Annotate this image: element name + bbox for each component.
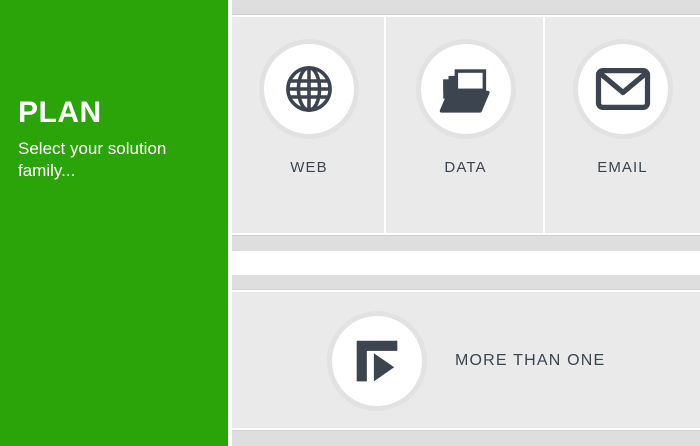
solution-option-email-label: EMAIL — [597, 159, 648, 176]
solution-family-card: WEB — [232, 0, 700, 251]
globe-icon — [282, 62, 336, 116]
plan-panel: PLAN Select your solution family... — [0, 0, 228, 446]
solution-option-web-label: WEB — [290, 159, 327, 176]
solution-option-data[interactable]: DATA — [386, 17, 545, 234]
card-top-strip — [232, 0, 700, 15]
solution-option-web-circle — [264, 44, 354, 134]
more-than-one-card[interactable]: MORE THAN ONE — [232, 275, 700, 446]
envelope-icon — [595, 67, 651, 111]
solution-option-data-circle — [421, 44, 511, 134]
folder-documents-icon — [438, 63, 494, 115]
solution-option-data-label: DATA — [444, 159, 486, 176]
card-bottom-strip — [232, 235, 700, 251]
card-bottom-strip — [232, 430, 700, 446]
page-title: PLAN — [18, 96, 210, 129]
solution-option-data-body: DATA — [386, 17, 545, 234]
solution-option-email-body: EMAIL — [545, 17, 700, 234]
bracket-play-icon — [352, 336, 402, 386]
more-than-one-circle — [332, 316, 422, 406]
solution-option-web-body: WEB — [232, 17, 386, 234]
solution-option-web[interactable]: WEB — [232, 17, 386, 234]
solution-option-email[interactable]: EMAIL — [545, 17, 700, 234]
solution-family-options: WEB — [232, 17, 700, 234]
page-subtitle: Select your solution family... — [18, 138, 210, 182]
card-top-strip — [232, 275, 700, 290]
solution-option-email-circle — [578, 44, 668, 134]
more-than-one-option[interactable]: MORE THAN ONE — [232, 292, 700, 430]
more-than-one-label: MORE THAN ONE — [455, 352, 605, 370]
app-root: PLAN Select your solution family... — [0, 0, 700, 446]
content-area: WEB — [232, 0, 700, 446]
